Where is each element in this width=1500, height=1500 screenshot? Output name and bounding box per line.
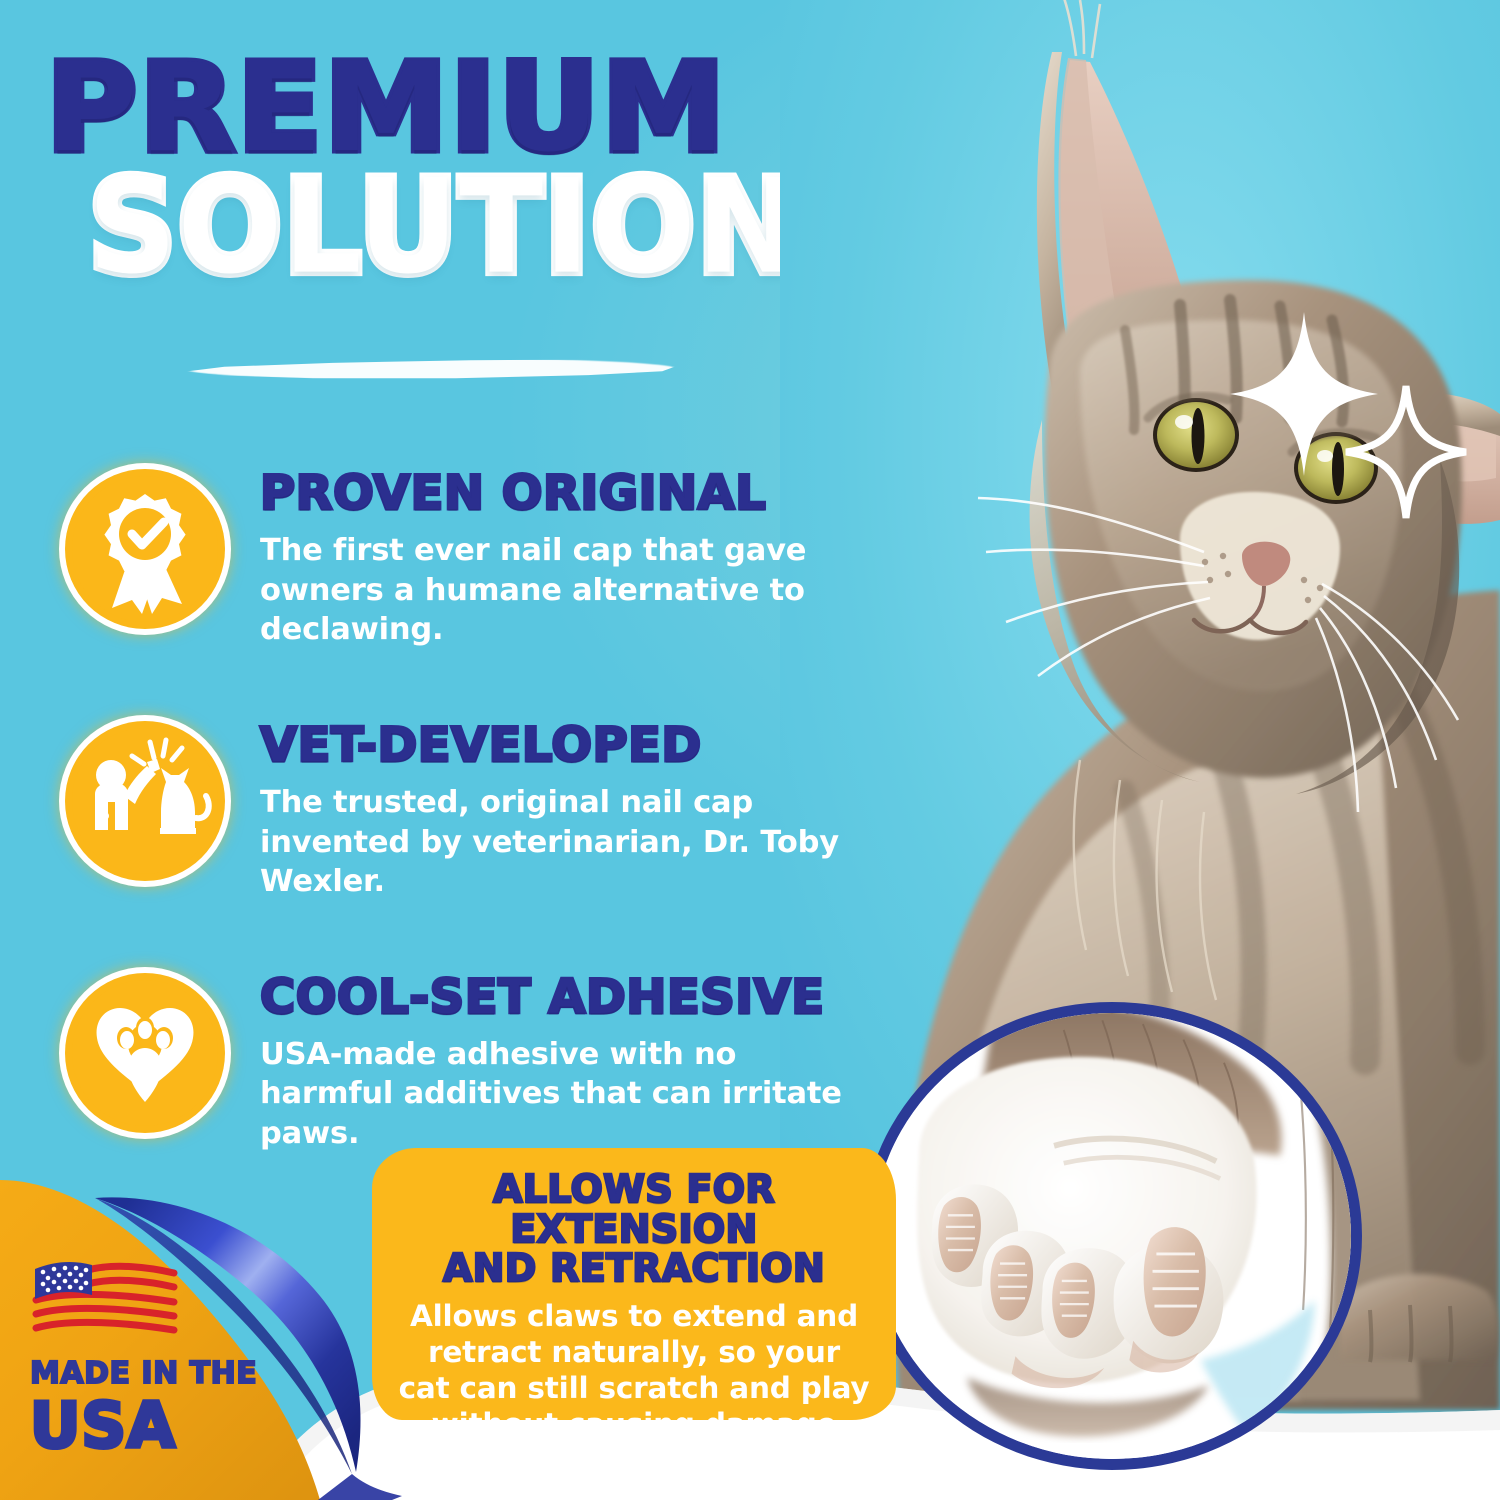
made-in-usa-line2: USA: [30, 1393, 280, 1458]
infographic-canvas: PREMIUM SOLUTION: [0, 0, 1500, 1500]
feature-body: The trusted, original nail cap invented …: [260, 783, 858, 902]
feature-title: COOL-SET ADHESIVE: [260, 974, 870, 1021]
vet-high-five-cat-icon: [62, 718, 228, 884]
paw-with-nail-caps-illustration: [862, 1002, 1362, 1470]
made-in-usa-line1: MADE IN THE: [30, 1359, 280, 1389]
feature-body: The first ever nail cap that gave owners…: [260, 531, 858, 650]
feature-item-proven-original: PROVEN ORIGINAL The first ever nail cap …: [58, 466, 858, 650]
cat-paw-inset-photo: [862, 1002, 1362, 1470]
callout-title-line2: AND RETRACTION: [398, 1249, 870, 1289]
headline-underline-swoosh: [185, 358, 677, 380]
feature-title: PROVEN ORIGINAL: [260, 470, 870, 517]
award-ribbon-check-icon: [62, 466, 228, 632]
headline-block: PREMIUM SOLUTION: [46, 52, 866, 286]
made-in-usa-badge: MADE IN THE USA: [30, 1257, 280, 1458]
us-flag-icon: [30, 1257, 180, 1343]
headline-line-premium: PREMIUM: [46, 52, 882, 164]
callout-title-line1: ALLOWS FOR EXTENSION: [398, 1170, 870, 1249]
feature-item-vet-developed: VET-DEVELOPED The trusted, original nail…: [58, 718, 858, 902]
callout-body: Allows claws to extend and retract natur…: [398, 1299, 870, 1443]
callout-extension-retraction: ALLOWS FOR EXTENSION AND RETRACTION Allo…: [372, 1148, 896, 1420]
feature-title: VET-DEVELOPED: [260, 722, 870, 769]
